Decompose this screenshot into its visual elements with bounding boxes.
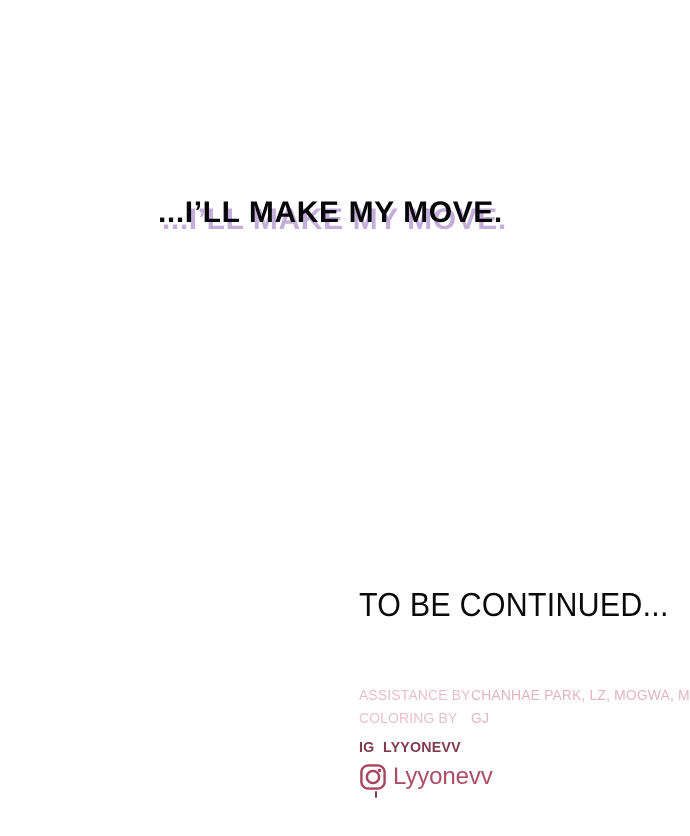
instagram-icon[interactable]	[359, 763, 387, 791]
credit-label-assistance: ASSISTANCE BY	[359, 688, 467, 704]
credit-value-assistance: CHANHAE PARK, LZ, MOGWA, MAN	[471, 688, 690, 704]
instagram-tag-label: IG	[359, 739, 374, 756]
instagram-icon-tail	[375, 791, 377, 798]
instagram-handle[interactable]: Lyyonevv	[393, 763, 493, 791]
credit-value-coloring: GJ	[471, 711, 489, 727]
credit-label-coloring: COLORING BY	[359, 711, 467, 727]
instagram-handle-uppercase: LYYONEVV	[383, 739, 461, 756]
credit-row-assistance: ASSISTANCE BY CHANHAE PARK, LZ, MOGWA, M…	[359, 688, 689, 711]
credit-row-coloring: COLORING BY GJ	[359, 711, 689, 734]
instagram-badge[interactable]: Lyyonevv	[359, 763, 493, 791]
instagram-text-line: IG LYYONEVV	[359, 739, 461, 756]
to-be-continued-text: TO BE CONTINUED...	[359, 586, 669, 624]
credits-block: ASSISTANCE BY CHANHAE PARK, LZ, MOGWA, M…	[359, 688, 689, 734]
comic-panel: ...I’LL MAKE MY MOVE. TO BE CONTINUED...…	[0, 0, 690, 836]
dialogue-text: ...I’LL MAKE MY MOVE.	[158, 196, 503, 230]
